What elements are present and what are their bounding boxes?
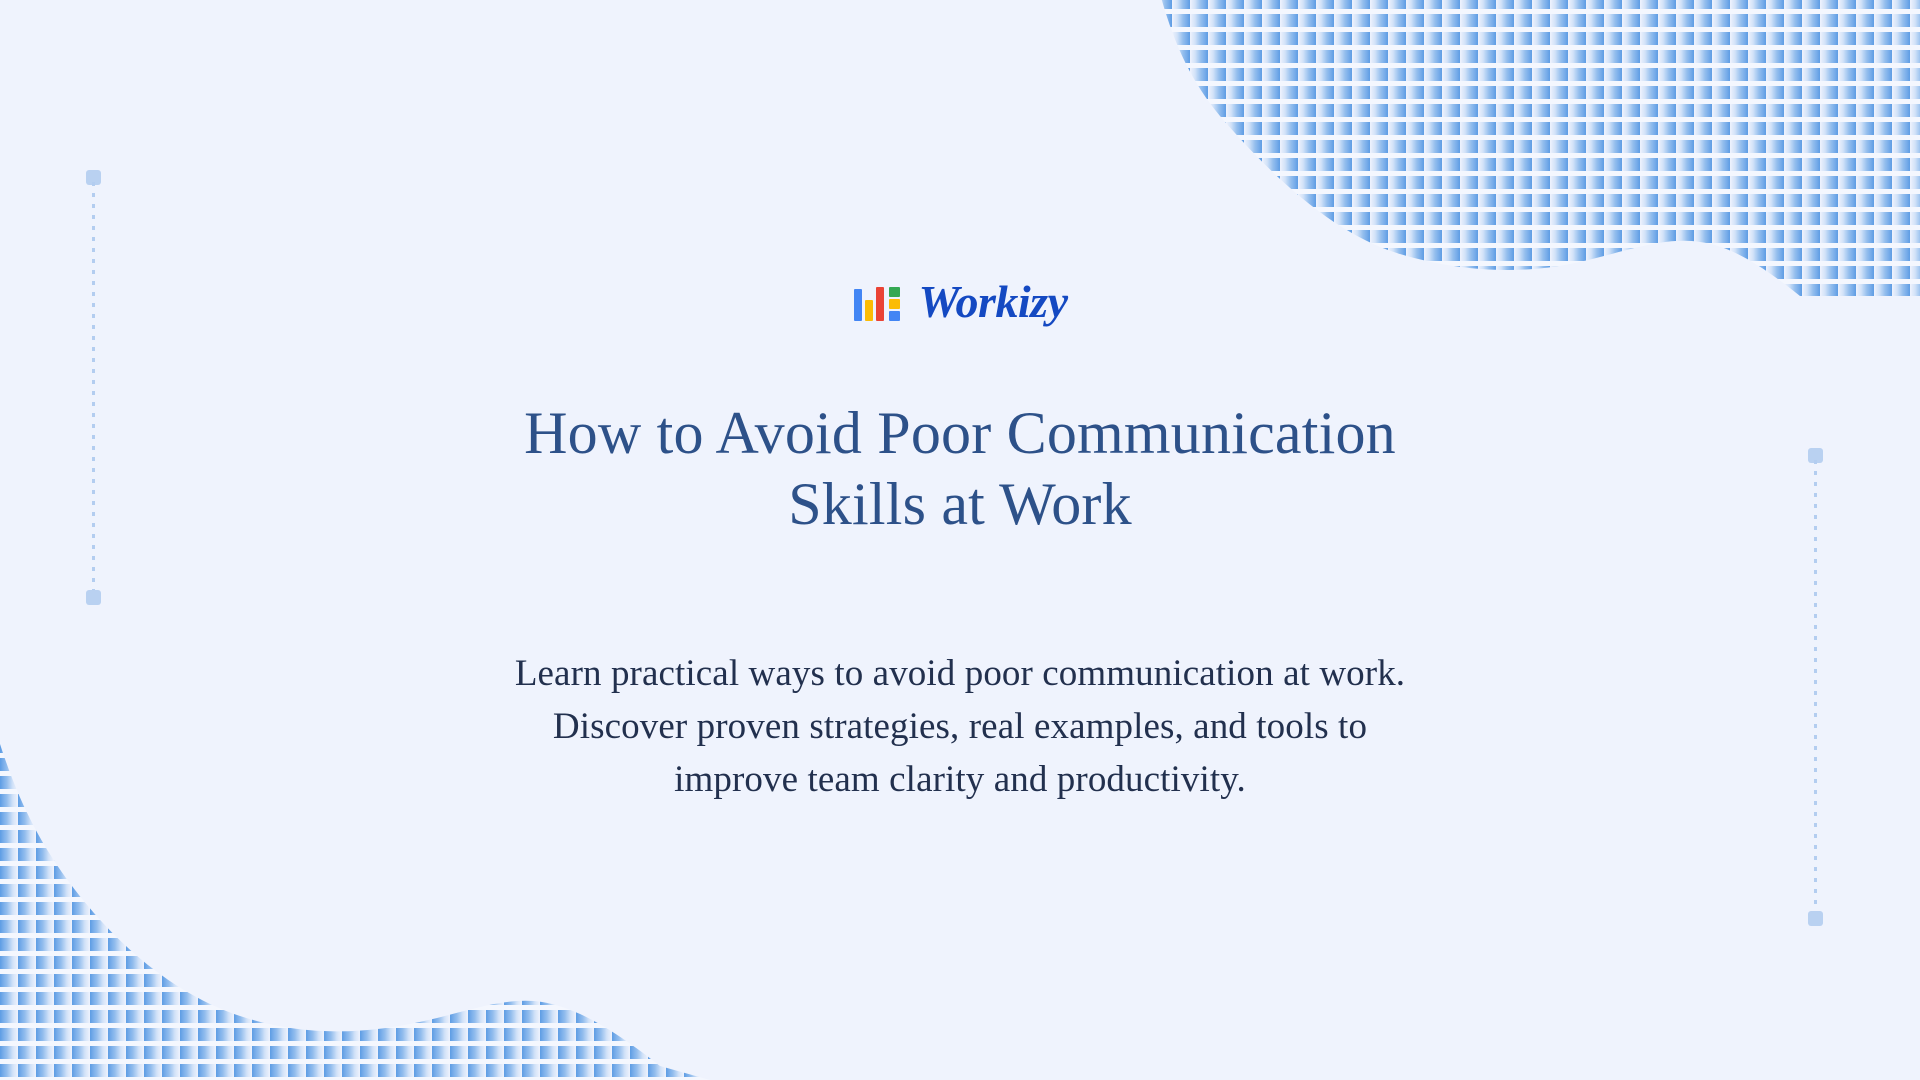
- brand-lockup: Workizy: [853, 278, 1068, 326]
- page-subtitle-line-1: Learn practical ways to avoid poor commu…: [515, 648, 1405, 701]
- brand-name: Workizy: [919, 279, 1068, 325]
- cover-content: Workizy How to Avoid Poor Communication …: [0, 0, 1920, 1080]
- page-title: How to Avoid Poor Communication Skills a…: [524, 398, 1396, 540]
- page-subtitle-line-2: Discover proven strategies, real example…: [515, 701, 1405, 754]
- page-subtitle: Learn practical ways to avoid poor commu…: [515, 648, 1405, 807]
- cover-canvas: Workizy How to Avoid Poor Communication …: [0, 0, 1920, 1080]
- bar-chart-logo-icon: [853, 283, 903, 321]
- page-title-line-2: Skills at Work: [524, 469, 1396, 540]
- page-subtitle-line-3: improve team clarity and productivity.: [515, 754, 1405, 807]
- page-title-line-1: How to Avoid Poor Communication: [524, 398, 1396, 469]
